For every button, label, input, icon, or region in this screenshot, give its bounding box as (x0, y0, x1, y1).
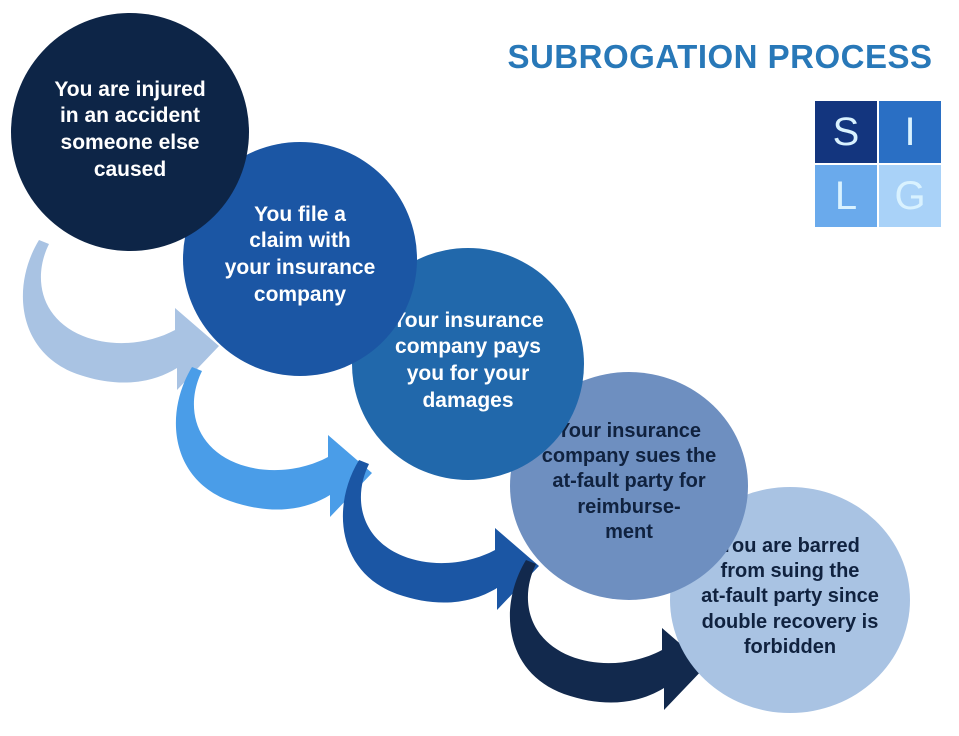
logo-letter-s: S (833, 112, 860, 152)
logo-cell-l: L (815, 165, 877, 227)
logo-letter-i: I (904, 112, 915, 152)
silg-logo: S I L G (815, 101, 941, 227)
process-step-1-label: You are injured in an accident someone e… (11, 77, 249, 184)
process-step-2-label: You file a claim with your insurance com… (183, 202, 417, 309)
logo-cell-s: S (815, 101, 877, 163)
logo-cell-g: G (879, 165, 941, 227)
infographic-canvas: SUBROGATION PROCESS S I L G You are inju… (0, 0, 959, 736)
logo-letter-l: L (835, 176, 857, 216)
page-title: SUBROGATION PROCESS (490, 38, 950, 76)
logo-letter-g: G (894, 176, 925, 216)
logo-cell-i: I (879, 101, 941, 163)
process-step-1: You are injured in an accident someone e… (11, 13, 249, 251)
